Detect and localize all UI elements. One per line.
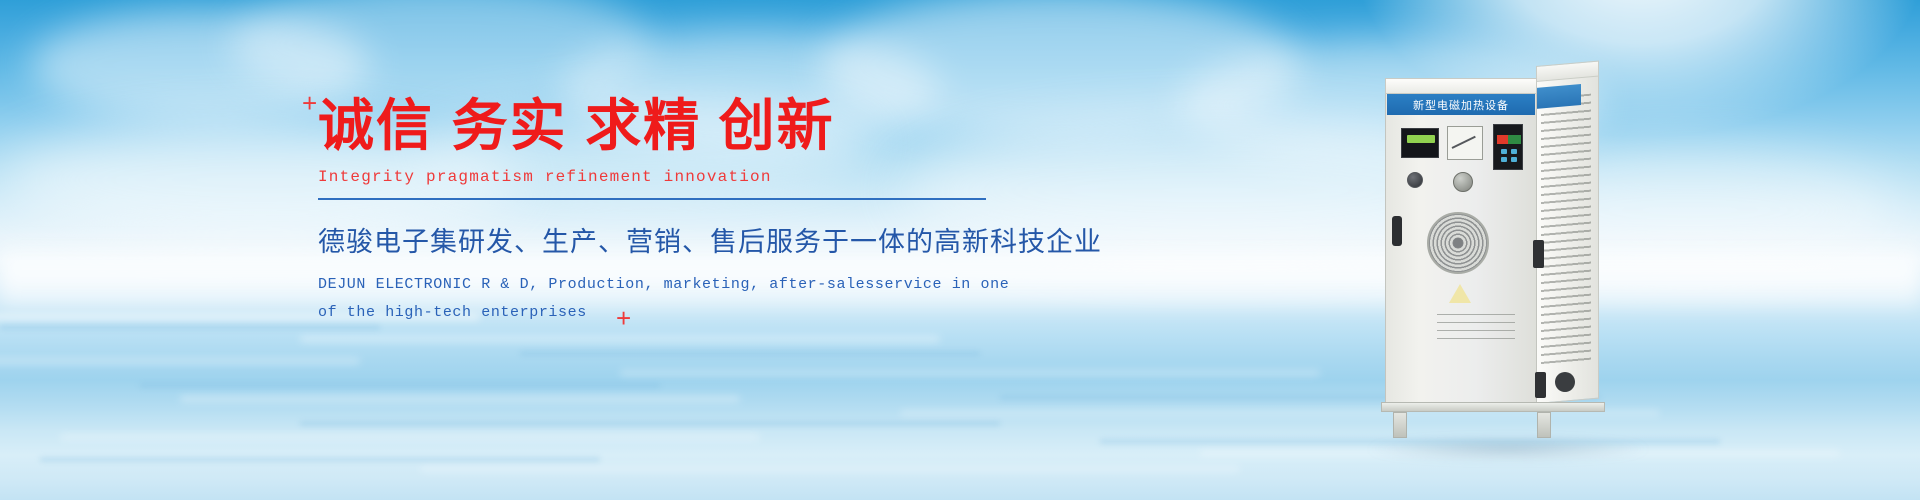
cabinet-top [1385,78,1537,94]
divider-rule [318,198,986,200]
tagline-chinese: 德骏电子集研发、生产、营销、售后服务于一体的高新科技企业 [318,220,1078,259]
ventilation-grille [1541,94,1591,368]
keypad-controller-icon [1493,124,1523,170]
cabinet-leg [1393,412,1407,438]
keypad-button-icon [1501,149,1507,154]
digital-display-icon [1401,128,1439,158]
keypad-button-icon [1511,149,1517,154]
cabinet-base [1381,402,1605,412]
segment-display-icon [1497,135,1521,144]
rotary-knob-icon [1453,172,1473,192]
hero-banner: + + 诚信 务实 求精 创新 Integrity pragmatism ref… [0,0,1920,500]
tagline-english: DEJUN ELECTRONIC R & D, Production, mark… [318,271,1078,327]
spec-plate [1437,314,1515,346]
keypad-button-icon [1501,157,1507,162]
cabinet-leg [1537,412,1551,438]
cooling-fan-icon [1427,212,1489,274]
side-port-icon [1555,372,1575,392]
keypad-button-icon [1511,157,1517,162]
side-latch-icon [1533,240,1544,268]
analog-gauge-icon [1447,126,1483,160]
selector-knob-icon [1407,172,1423,188]
door-handle-icon [1392,216,1402,246]
side-latch-lower-icon [1535,372,1546,398]
plus-decoration-icon: + [302,90,317,116]
product-label-bar: 新型电磁加热设备 [1387,94,1535,115]
label-bar-side [1535,84,1581,109]
banner-copy: 诚信 务实 求精 创新 Integrity pragmatism refinem… [318,96,1078,327]
warning-triangle-icon [1449,284,1471,303]
headline-english: Integrity pragmatism refinement innovati… [318,168,1078,186]
tagline-english-line-2: of the high-tech enterprises [318,299,1078,327]
product-label-text: 新型电磁加热设备 [1413,97,1509,113]
product-image-heating-machine: 新型电磁加热设备 [1385,72,1635,452]
tagline-english-line-1: DEJUN ELECTRONIC R & D, Production, mark… [318,271,1078,299]
headline-chinese: 诚信 务实 求精 创新 [318,96,1078,156]
